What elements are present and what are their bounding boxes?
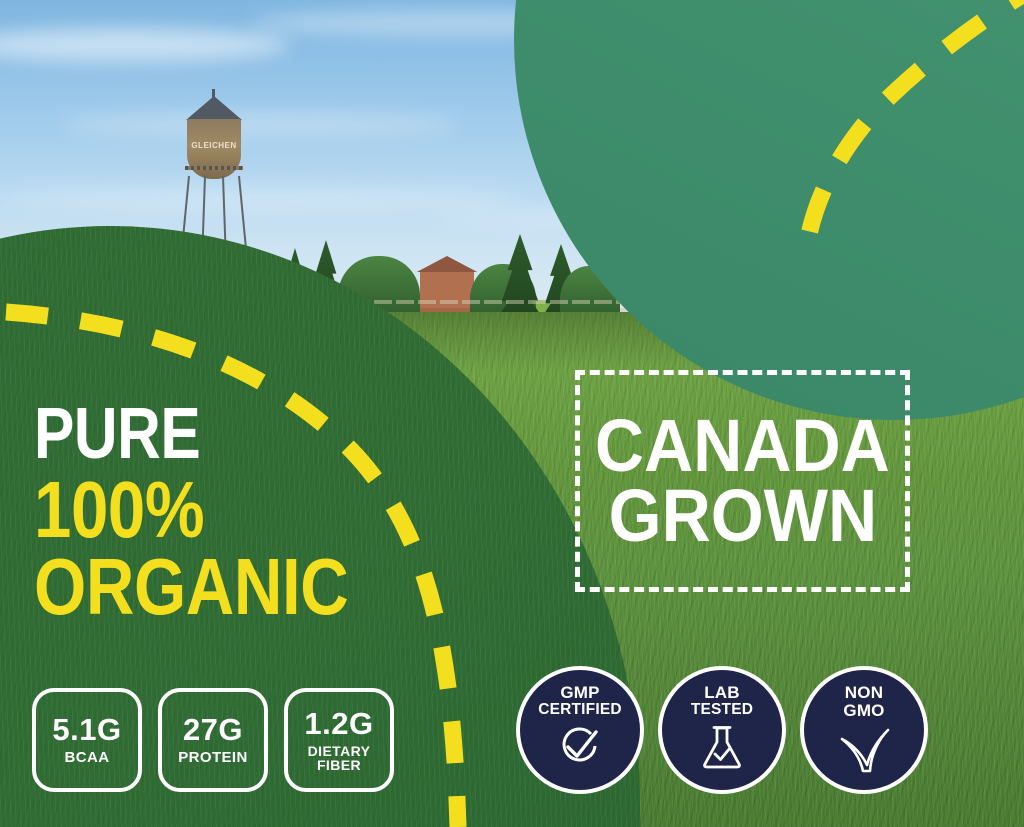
nutrition-label: PROTEIN (178, 750, 247, 765)
nutrition-value: 5.1G (52, 714, 121, 745)
water-tower-roof (186, 96, 242, 120)
nutrition-label: BCAA (65, 750, 110, 765)
canada-grown-badge: CANADA GROWN (575, 370, 910, 592)
headline-line-organic: ORGANIC (34, 553, 348, 622)
cert-line2: CERTIFIED (538, 702, 622, 718)
cloud (0, 28, 290, 62)
headline-block: PURE 100% ORGANIC (34, 404, 408, 622)
headline-line-pure: PURE (34, 404, 348, 466)
check-circle-icon (555, 723, 605, 776)
cert-line2: TESTED (691, 702, 753, 718)
cert-line1: GMP (560, 684, 599, 702)
leaf-check-icon (836, 725, 892, 780)
certification-badge-lab-tested: LAB TESTED (658, 666, 786, 794)
nutrition-label-line2: FIBER (317, 757, 361, 773)
nutrition-label: DIETARY FIBER (308, 744, 371, 773)
certification-badge-row: GMP CERTIFIED LAB TESTED NON (516, 666, 928, 794)
nutrition-badge-dietary-fiber: 1.2G DIETARY FIBER (284, 688, 394, 792)
nutrition-value: 27G (183, 714, 243, 745)
product-banner: GLEICHEN PURE 100% ORGANIC 5.1G (0, 0, 1024, 827)
water-tower-tank: GLEICHEN (187, 119, 241, 179)
cert-line2: GMO (843, 702, 884, 720)
flask-icon (699, 723, 745, 776)
house (420, 270, 474, 314)
water-tower-band (185, 166, 243, 170)
headline-line-percent: 100% (34, 476, 348, 545)
certification-badge-non-gmo: NON GMO (800, 666, 928, 794)
nutrition-badge-protein: 27G PROTEIN (158, 688, 268, 792)
cert-line1: NON (845, 684, 883, 702)
nutrition-badge-bcaa: 5.1G BCAA (32, 688, 142, 792)
nutrition-value: 1.2G (304, 708, 373, 739)
canada-grown-line1: CANADA (595, 412, 890, 480)
certification-badge-gmp: GMP CERTIFIED (516, 666, 644, 794)
nutrition-badge-row: 5.1G BCAA 27G PROTEIN 1.2G DIETARY FIBER (32, 688, 394, 792)
water-tower-label: GLEICHEN (187, 141, 241, 150)
canada-grown-line2: GROWN (608, 482, 877, 550)
cert-line1: LAB (704, 684, 740, 702)
